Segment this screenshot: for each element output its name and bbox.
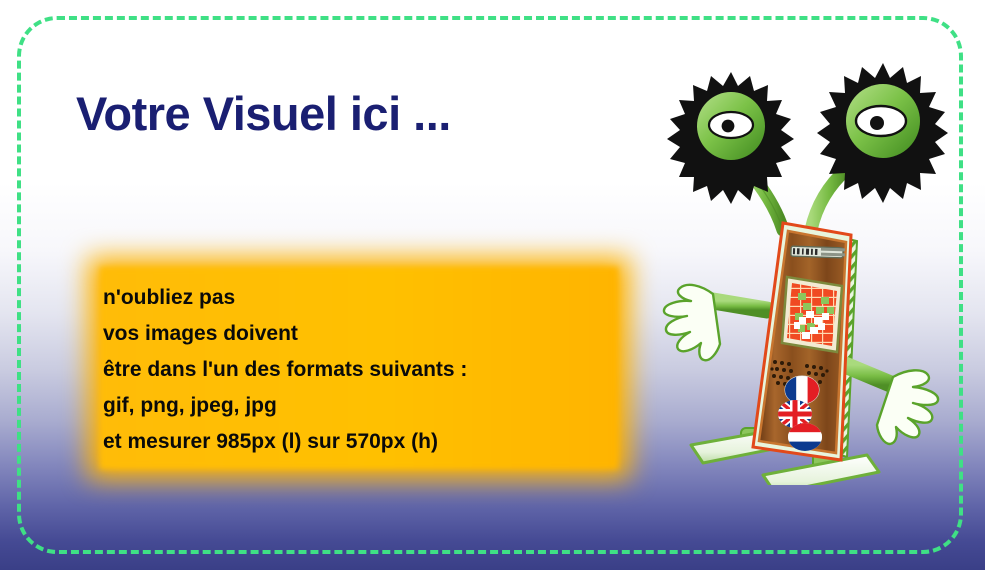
flag-netherlands	[788, 423, 822, 451]
eye-stalk-left	[667, 72, 794, 230]
card-slot	[791, 246, 845, 258]
note-line: être dans l'un des formats suivants :	[103, 352, 623, 388]
note-box: n'oubliez pas vos images doivent être da…	[70, 243, 645, 493]
kiosk-screen	[782, 277, 842, 352]
kiosk-body	[753, 223, 851, 460]
page-title: Votre Visuel ici ...	[76, 86, 451, 141]
note-line: et mesurer 985px (l) sur 570px (h)	[103, 424, 623, 460]
arm-right	[845, 365, 938, 444]
eye-stalk-right	[811, 63, 948, 230]
flag-france	[785, 376, 819, 404]
note-line: n'oubliez pas	[103, 280, 623, 316]
arm-left	[664, 285, 767, 360]
kiosk-robot-illustration	[635, 55, 965, 485]
note-line: gif, png, jpeg, jpg	[103, 388, 623, 424]
note-line: vos images doivent	[103, 316, 623, 352]
note-box-text: n'oubliez pas vos images doivent être da…	[103, 280, 623, 460]
placeholder-banner: Votre Visuel ici ... n'oubliez pas vos i…	[0, 0, 985, 570]
